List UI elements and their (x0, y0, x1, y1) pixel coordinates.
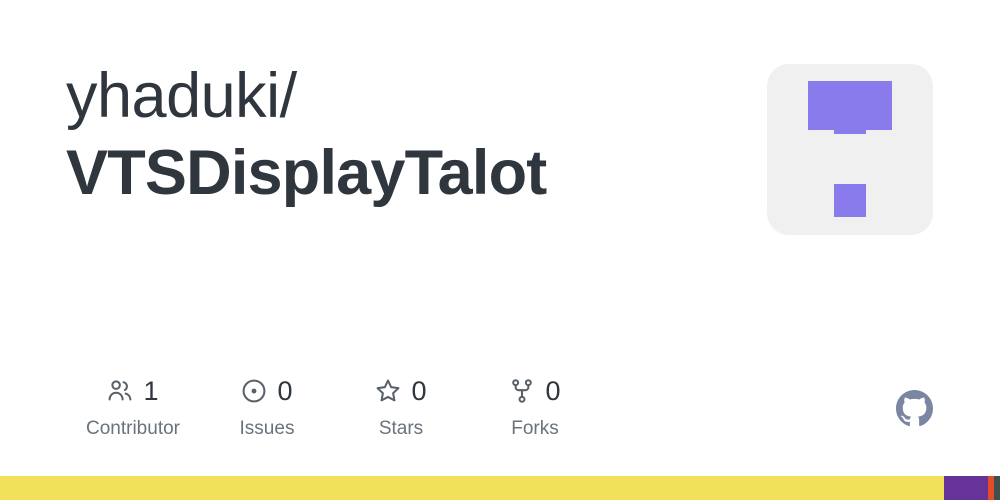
identicon-cell-stem (834, 81, 866, 134)
stat-forks-label: Forks (511, 418, 559, 440)
identicon-cell-lower-square (834, 184, 866, 217)
language-bar (0, 476, 1000, 500)
stat-issues-value: 0 (277, 376, 292, 406)
language-segment-1 (0, 476, 944, 500)
star-icon (375, 378, 401, 404)
identicon-avatar (767, 64, 933, 235)
repo-name: VTSDisplayTalot (66, 134, 706, 212)
people-icon (107, 378, 133, 404)
fork-icon (509, 378, 535, 404)
stat-contributors: 1 Contributor (66, 374, 200, 440)
issue-opened-icon (241, 378, 267, 404)
owner-avatar (767, 64, 933, 235)
language-segment-4 (994, 476, 1000, 500)
repo-stats: 1 Contributor 0 Issues (66, 374, 602, 440)
repo-owner-name: yhaduki/ (66, 58, 706, 134)
stat-issues: 0 Issues (200, 374, 334, 440)
stat-stars-value: 0 (411, 376, 426, 406)
language-segment-2 (944, 476, 988, 500)
stat-stars-top: 0 (375, 374, 426, 408)
stat-contributors-value: 1 (143, 376, 158, 406)
repo-title-block: yhaduki/ VTSDisplayTalot (66, 58, 706, 212)
stat-issues-label: Issues (240, 418, 295, 440)
stat-stars: 0 Stars (334, 374, 468, 440)
stat-forks-top: 0 (509, 374, 560, 408)
stat-forks: 0 Forks (468, 374, 602, 440)
repo-social-preview-card: yhaduki/ VTSDisplayTalot (0, 0, 1000, 500)
stat-contributors-top: 1 (107, 374, 158, 408)
stat-contributors-label: Contributor (86, 418, 180, 440)
stat-issues-top: 0 (241, 374, 292, 408)
stat-stars-label: Stars (379, 418, 423, 440)
github-mark-icon (896, 390, 933, 427)
stat-forks-value: 0 (545, 376, 560, 406)
